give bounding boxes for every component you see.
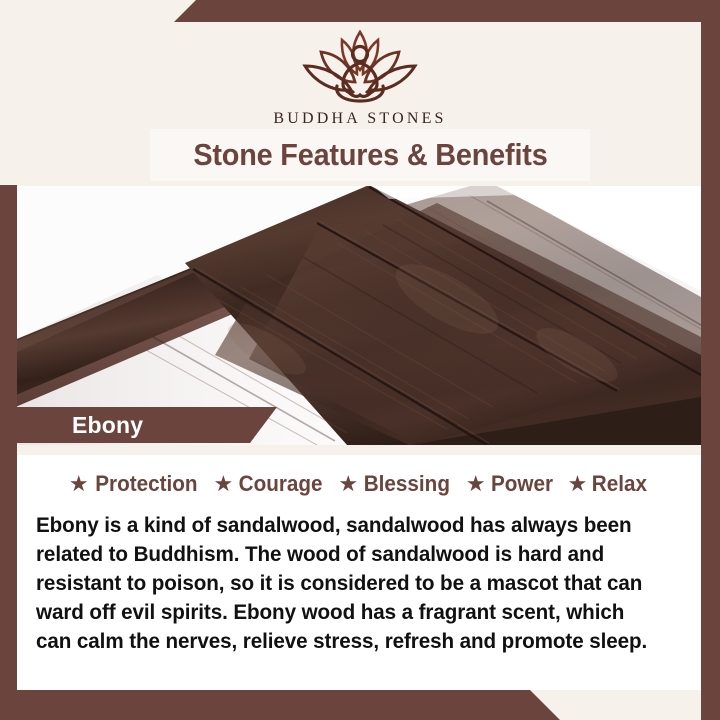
benefit-label: Blessing bbox=[364, 471, 450, 497]
benefit-label: Protection bbox=[95, 471, 197, 497]
star-icon: ★ bbox=[338, 473, 358, 495]
benefit-item: ★ Protection bbox=[69, 471, 201, 497]
benefit-item: ★ Power bbox=[466, 471, 555, 497]
content-panel: ★ Protection ★ Courage ★ Blessing ★ Powe… bbox=[17, 455, 701, 690]
star-icon: ★ bbox=[213, 473, 233, 495]
benefit-label: Relax bbox=[592, 471, 647, 497]
star-icon: ★ bbox=[466, 473, 486, 495]
star-icon: ★ bbox=[568, 473, 588, 495]
bottom-accent-bar bbox=[0, 690, 560, 720]
title-band: Stone Features & Benefits bbox=[150, 129, 590, 181]
benefit-label: Power bbox=[491, 471, 553, 497]
infographic-card: BUDDHA STONES Stone Features & Benefits … bbox=[0, 0, 720, 720]
left-accent-bar bbox=[0, 185, 17, 720]
description-text: Ebony is a kind of sandalwood, sandalwoo… bbox=[36, 511, 658, 656]
product-photo bbox=[17, 179, 701, 445]
product-label: Ebony bbox=[72, 412, 143, 439]
brand-name: BUDDHA STONES bbox=[0, 110, 720, 128]
right-accent-bar bbox=[701, 0, 720, 720]
benefit-item: ★ Relax bbox=[568, 471, 649, 497]
brand-logo: BUDDHA STONES bbox=[0, 22, 720, 128]
benefit-item: ★ Courage bbox=[213, 471, 325, 497]
benefit-item: ★ Blessing bbox=[338, 471, 452, 497]
benefits-row: ★ Protection ★ Courage ★ Blessing ★ Powe… bbox=[17, 471, 701, 497]
star-icon: ★ bbox=[69, 473, 89, 495]
page-title: Stone Features & Benefits bbox=[193, 137, 547, 173]
benefit-label: Courage bbox=[239, 471, 323, 497]
ebony-wood-planks-illustration bbox=[17, 179, 701, 445]
product-label-banner: Ebony bbox=[17, 407, 277, 443]
lotus-meditation-logo-icon bbox=[285, 22, 435, 108]
